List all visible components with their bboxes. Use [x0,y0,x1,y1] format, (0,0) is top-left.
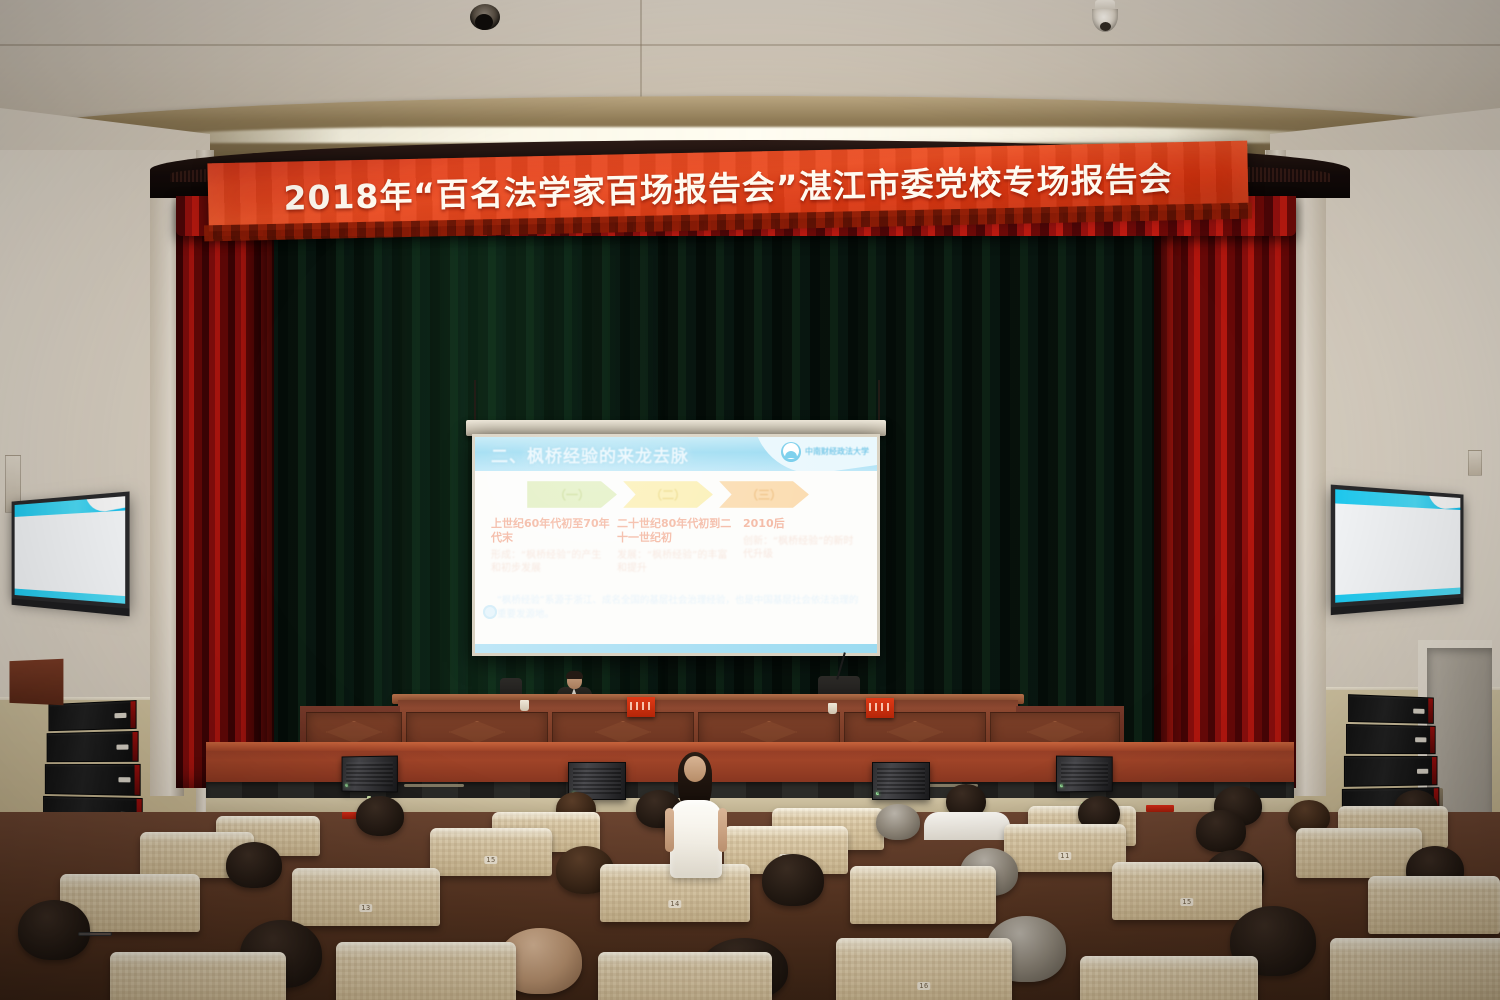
floor-monitor-3 [872,762,930,800]
seat-number: 16 [917,982,930,990]
floor-monitor-4 [1056,756,1113,793]
left-wall-monitor [12,491,130,608]
seat-number: 15 [484,856,497,864]
stage-curtain-right [1154,196,1296,788]
slide-quote-icon [483,605,497,619]
audience-head [18,900,90,960]
seat-number: 14 [668,900,681,908]
monitor-logo-icon-right [1450,498,1457,507]
stage-cable [404,784,464,787]
security-camera-icon [1092,0,1118,34]
wall-vent-plate-right [1468,450,1482,476]
slide-columns: 上世纪60年代初至70年代末 形成：“枫桥经验”的产生和初步发展 二十世纪80年… [491,517,863,575]
slide-column-2-body: 发展：“枫桥经验”的丰富和提升 [617,549,737,575]
seat[interactable] [598,952,772,1000]
slide-footnote: “枫桥经验”系源于浙江、成名全国的基层社会治理经验，也是中国基层社会依法治理的重… [497,594,863,623]
slide-column-3: 2010后 创新：“枫桥经验”的新时代升级 [743,517,863,575]
ceiling-speaker-icon [470,4,500,30]
seat-number: 15 [1180,898,1193,906]
teacup-right [828,703,837,714]
audience-head [876,804,920,840]
seat[interactable]: 13 [292,868,440,926]
stage-curtain-left [176,196,274,788]
chevron-step-3: （三） [719,481,809,508]
university-emblem-icon [781,442,801,462]
audience-head [226,842,282,888]
auditorium-photo: 2018年“百名法学家百场报告会”湛江市委党校专场报告会 二、枫桥经验的来龙去脉… [0,0,1500,1000]
stage-apron-edge [206,742,1294,751]
seat-number: 13 [359,904,372,912]
right-wall-monitor [1331,485,1464,608]
slide-column-2-heading: 二十世纪80年代初到二十一世纪初 [617,517,737,545]
teacup-left [520,700,529,711]
chevron-step-1: （一） [527,481,617,508]
standing-audience-member [664,752,728,877]
slide-column-1-heading: 上世纪60年代初至70年代末 [491,517,611,545]
seat[interactable]: 16 [836,938,1012,1000]
nameplate-presenter [627,697,655,717]
seat[interactable] [1368,876,1500,934]
seat[interactable]: 15 [430,828,552,876]
audience-head [356,796,404,836]
audience-shoulders [924,812,1010,840]
slide-column-1: 上世纪60年代初至70年代末 形成：“枫桥经验”的产生和初步发展 [491,517,611,575]
seat[interactable] [1080,956,1258,1000]
right-wall-monitor-screen [1335,489,1460,602]
red-folder-stage [1146,805,1174,812]
presentation-slide: 二、枫桥经验的来龙去脉 中南财经政法大学 （一） （二） （三） 上世纪60年代… [475,437,877,653]
slide-column-2: 二十世纪80年代初到二十一世纪初 发展：“枫桥经验”的丰富和提升 [617,517,737,575]
slide-university-logo: 中南财经政法大学 [781,442,869,462]
nameplate-host [866,698,894,718]
seat[interactable] [1330,938,1500,1000]
seat[interactable] [850,866,996,924]
left-wall-monitor-screen [15,496,126,604]
side-lectern [9,659,63,706]
slide-footer-bar [475,644,877,653]
slide-column-3-body: 创新：“枫桥经验”的新时代升级 [743,535,863,561]
seat[interactable]: 11 [1004,824,1126,872]
chevron-step-2: （二） [623,481,713,508]
slide-stage-chevrons: （一） （二） （三） [527,481,809,508]
projection-screen: 二、枫桥经验的来龙去脉 中南财经政法大学 （一） （二） （三） 上世纪60年代… [472,434,880,656]
seat[interactable] [336,942,516,1000]
slide-title: 二、枫桥经验的来龙去脉 [491,442,689,467]
ceiling-seam [0,44,1500,46]
university-name: 中南财经政法大学 [805,448,869,456]
eyeglasses-icon [78,932,112,936]
ceiling-seam [640,0,642,104]
audience-head [762,854,824,906]
seat[interactable]: 15 [1112,862,1262,920]
seat[interactable] [110,952,286,1000]
audience-head [1196,810,1246,852]
slide-column-3-heading: 2010后 [743,517,863,531]
floor-monitor-1 [342,756,398,793]
seat-number: 11 [1058,852,1071,860]
seat[interactable] [1296,828,1422,878]
slide-column-1-body: 形成：“枫桥经验”的产生和初步发展 [491,549,611,575]
